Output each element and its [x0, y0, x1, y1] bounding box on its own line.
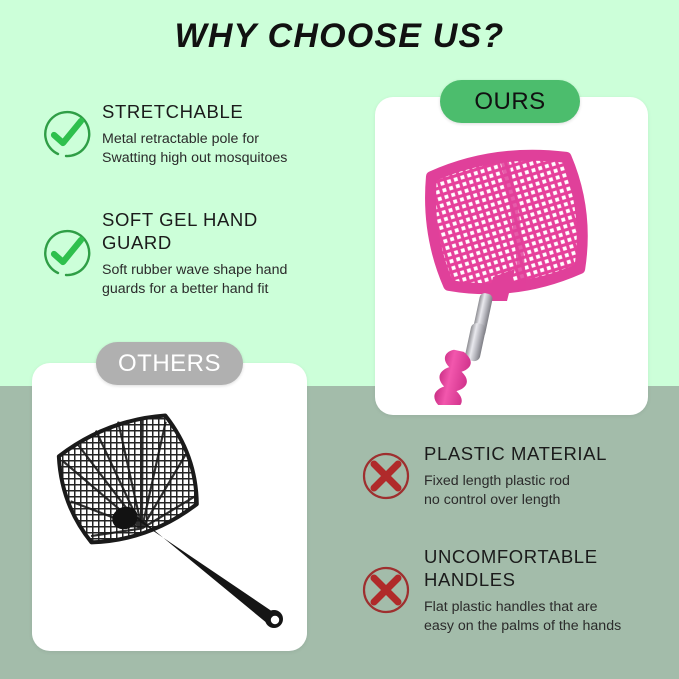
feature-body: Metal retractable pole for Swatting high… [102, 130, 338, 167]
comparison-infographic: WHY CHOOSE US? [0, 0, 679, 679]
feature-text: SOFT GEL HAND GUARD Soft rubber wave sha… [94, 208, 338, 298]
feature-title-line: HANDLES [424, 568, 676, 591]
feature-uncomfortable-handles: UNCOMFORTABLE HANDLES Flat plastic handl… [358, 545, 676, 635]
check-circle-icon [38, 225, 94, 281]
black-fly-swatter-image [44, 400, 294, 638]
feature-title-line: UNCOMFORTABLE [424, 545, 676, 568]
feature-text: STRETCHABLE Metal retractable pole for S… [94, 100, 338, 167]
page-title: WHY CHOOSE US? [0, 17, 679, 56]
feature-soft-gel-hand-guard: SOFT GEL HAND GUARD Soft rubber wave sha… [38, 208, 338, 298]
feature-body-line: no control over length [424, 491, 670, 510]
feature-body-line: Metal retractable pole for [102, 130, 338, 149]
feature-body-line: Swatting high out mosquitoes [102, 149, 338, 168]
feature-body-line: Flat plastic handles that are [424, 598, 676, 617]
feature-body-line: easy on the palms of the hands [424, 617, 676, 636]
feature-body-line: Fixed length plastic rod [424, 472, 670, 491]
others-product-card: OTHERS [32, 363, 307, 651]
feature-body: Fixed length plastic rod no control over… [424, 472, 670, 509]
check-circle-icon [38, 106, 94, 162]
feature-title: SOFT GEL HAND GUARD [102, 208, 338, 254]
feature-text: PLASTIC MATERIAL Fixed length plastic ro… [414, 442, 670, 509]
ours-product-card: OURS [375, 97, 648, 415]
feature-title: UNCOMFORTABLE HANDLES [424, 545, 676, 591]
feature-body: Flat plastic handles that are easy on th… [424, 598, 676, 635]
feature-text: UNCOMFORTABLE HANDLES Flat plastic handl… [414, 545, 676, 635]
feature-title-line: SOFT GEL HAND [102, 208, 338, 231]
feature-body: Soft rubber wave shape hand guards for a… [102, 261, 338, 298]
feature-body-line: Soft rubber wave shape hand [102, 261, 338, 280]
others-badge: OTHERS [96, 342, 243, 385]
feature-title: PLASTIC MATERIAL [424, 442, 670, 465]
feature-title-line: GUARD [102, 231, 338, 254]
ours-badge: OURS [440, 80, 580, 123]
x-circle-icon [358, 562, 414, 618]
pink-fly-swatter-image [375, 125, 648, 405]
feature-stretchable: STRETCHABLE Metal retractable pole for S… [38, 100, 338, 167]
feature-plastic-material: PLASTIC MATERIAL Fixed length plastic ro… [358, 442, 670, 509]
x-circle-icon [358, 448, 414, 504]
feature-title: STRETCHABLE [102, 100, 338, 123]
feature-body-line: guards for a better hand fit [102, 280, 338, 299]
